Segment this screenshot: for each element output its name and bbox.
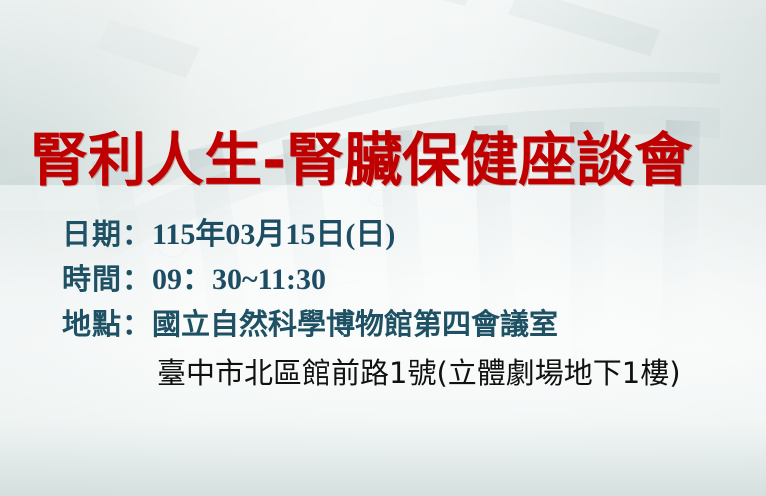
date-label: 日期： (62, 217, 152, 251)
venue-address: 臺中市北區館前路1號(立體劇場地下1樓) (157, 352, 681, 394)
date-value: 115年03月15日(日) (152, 218, 395, 251)
event-details: 日期：115年03月15日(日) 時間：09：30~11:30 地點：國立自然科… (62, 212, 752, 347)
detail-row-date: 日期：115年03月15日(日) (62, 212, 752, 257)
venue-label: 地點： (62, 307, 152, 341)
poster-content: 腎利人生-腎臟保健座談會 日期：115年03月15日(日) 時間：09：30~1… (0, 0, 766, 496)
detail-row-venue: 地點：國立自然科學博物館第四會議室 (62, 302, 752, 347)
event-poster: 腎利人生-腎臟保健座談會 日期：115年03月15日(日) 時間：09：30~1… (0, 0, 766, 496)
time-value: 09：30~11:30 (152, 263, 326, 296)
detail-row-time: 時間：09：30~11:30 (62, 257, 752, 302)
venue-value: 國立自然科學博物館第四會議室 (152, 307, 558, 341)
page-title: 腎利人生-腎臟保健座談會 (30, 129, 740, 191)
time-label: 時間： (62, 262, 152, 296)
